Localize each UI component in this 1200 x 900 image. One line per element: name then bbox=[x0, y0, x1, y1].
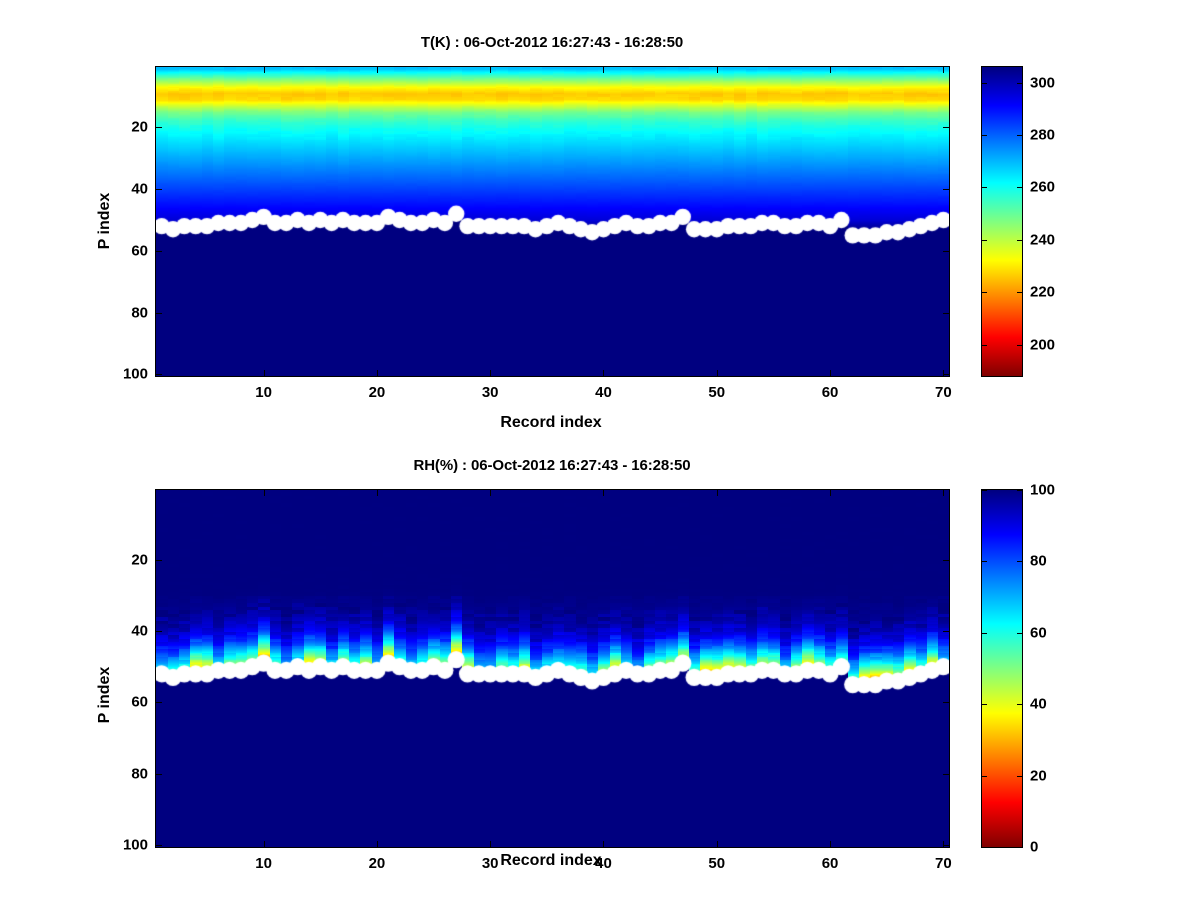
temperature-colorbar-tick bbox=[982, 292, 987, 293]
temperature-x-tick-label: 70 bbox=[935, 384, 952, 401]
humidity-x-tick-top bbox=[264, 490, 265, 496]
temperature-x-tick-label: 10 bbox=[255, 384, 272, 401]
humidity-colorbar-tick-label: 40 bbox=[1030, 696, 1047, 713]
temperature-colorbar-tick bbox=[982, 240, 987, 241]
humidity-x-tick-label: 70 bbox=[935, 855, 952, 872]
humidity-x-tick-label: 30 bbox=[482, 855, 499, 872]
temperature-y-axis-label: P index bbox=[96, 193, 114, 250]
humidity-x-tick-top bbox=[603, 490, 604, 496]
humidity-colorbar-tick-right bbox=[1017, 490, 1022, 491]
temperature-x-tick-top bbox=[830, 67, 831, 73]
temperature-colorbar-tick-label: 280 bbox=[1030, 127, 1055, 144]
temperature-colorbar-gradient bbox=[982, 67, 1022, 376]
temperature-colorbar-tick-label: 300 bbox=[1030, 74, 1055, 91]
humidity-x-tick bbox=[717, 841, 718, 847]
humidity-colorbar-tick-label: 20 bbox=[1030, 767, 1047, 784]
humidity-y-tick-label: 40 bbox=[98, 623, 148, 640]
humidity-x-tick-label: 60 bbox=[822, 855, 839, 872]
humidity-colorbar-tick bbox=[982, 704, 987, 705]
humidity-x-tick bbox=[377, 841, 378, 847]
humidity-colorbar-tick-label: 60 bbox=[1030, 624, 1047, 641]
temperature-y-tick bbox=[156, 127, 162, 128]
humidity-x-axis-label: Record index bbox=[500, 852, 601, 870]
humidity-colorbar-tick-right bbox=[1017, 704, 1022, 705]
humidity-x-tick-label: 10 bbox=[255, 855, 272, 872]
humidity-heatmap bbox=[156, 490, 949, 847]
temperature-y-tick-label: 100 bbox=[98, 366, 148, 383]
temperature-colorbar-tick-right bbox=[1017, 345, 1022, 346]
humidity-colorbar-tick bbox=[982, 776, 987, 777]
temperature-colorbar-tick-label: 260 bbox=[1030, 179, 1055, 196]
temperature-colorbar-tick-right bbox=[1017, 240, 1022, 241]
humidity-axes bbox=[155, 489, 950, 848]
temperature-colorbar-tick bbox=[982, 345, 987, 346]
temperature-x-tick-label: 50 bbox=[708, 384, 725, 401]
humidity-y-tick-label: 20 bbox=[98, 551, 148, 568]
temperature-x-tick bbox=[264, 370, 265, 376]
temperature-colorbar-tick-label: 220 bbox=[1030, 284, 1055, 301]
temperature-colorbar-tick-label: 200 bbox=[1030, 336, 1055, 353]
temperature-y-tick bbox=[156, 189, 162, 190]
humidity-x-tick-top bbox=[717, 490, 718, 496]
temperature-panel: T(K) : 06-Oct-2012 16:27:43 - 16:28:50 1… bbox=[0, 0, 1200, 450]
humidity-colorbar-tick-label: 0 bbox=[1030, 839, 1038, 856]
humidity-x-tick-top bbox=[377, 490, 378, 496]
humidity-y-tick-right bbox=[943, 702, 949, 703]
temperature-y-tick bbox=[156, 251, 162, 252]
humidity-y-tick-label: 80 bbox=[98, 765, 148, 782]
temperature-colorbar-tick-right bbox=[1017, 83, 1022, 84]
temperature-x-tick-label: 30 bbox=[482, 384, 499, 401]
humidity-x-tick-label: 50 bbox=[708, 855, 725, 872]
temperature-x-tick bbox=[377, 370, 378, 376]
temperature-colorbar-tick-right bbox=[1017, 187, 1022, 188]
figure-canvas: T(K) : 06-Oct-2012 16:27:43 - 16:28:50 1… bbox=[0, 0, 1200, 900]
temperature-plot-title: T(K) : 06-Oct-2012 16:27:43 - 16:28:50 bbox=[155, 34, 949, 51]
humidity-x-tick-label: 20 bbox=[369, 855, 386, 872]
temperature-x-tick-label: 40 bbox=[595, 384, 612, 401]
humidity-x-tick bbox=[603, 841, 604, 847]
humidity-colorbar-tick-right bbox=[1017, 847, 1022, 848]
temperature-x-tick-top bbox=[943, 67, 944, 73]
humidity-x-tick bbox=[264, 841, 265, 847]
temperature-x-tick bbox=[490, 370, 491, 376]
humidity-y-tick bbox=[156, 702, 162, 703]
temperature-colorbar-tick bbox=[982, 135, 987, 136]
temperature-y-tick bbox=[156, 374, 162, 375]
humidity-y-tick-right bbox=[943, 631, 949, 632]
humidity-y-tick bbox=[156, 631, 162, 632]
temperature-y-tick-right bbox=[943, 313, 949, 314]
humidity-x-tick-top bbox=[943, 490, 944, 496]
humidity-colorbar-tick bbox=[982, 490, 987, 491]
temperature-x-tick-top bbox=[264, 67, 265, 73]
temperature-x-tick-label: 20 bbox=[369, 384, 386, 401]
temperature-x-axis-label: Record index bbox=[500, 414, 601, 432]
humidity-y-axis-label: P index bbox=[96, 667, 114, 724]
humidity-colorbar-tick-right bbox=[1017, 633, 1022, 634]
temperature-x-tick-top bbox=[377, 67, 378, 73]
humidity-y-tick bbox=[156, 560, 162, 561]
humidity-y-tick-label: 100 bbox=[98, 837, 148, 854]
humidity-x-tick bbox=[830, 841, 831, 847]
temperature-y-tick-label: 80 bbox=[98, 304, 148, 321]
humidity-colorbar-tick bbox=[982, 561, 987, 562]
temperature-heatmap bbox=[156, 67, 949, 376]
humidity-x-tick-top bbox=[490, 490, 491, 496]
temperature-x-tick-top bbox=[490, 67, 491, 73]
humidity-colorbar-tick-right bbox=[1017, 776, 1022, 777]
humidity-y-tick bbox=[156, 845, 162, 846]
humidity-y-tick-right bbox=[943, 774, 949, 775]
temperature-y-tick-right bbox=[943, 127, 949, 128]
humidity-colorbar bbox=[981, 489, 1023, 848]
temperature-colorbar-tick bbox=[982, 83, 987, 84]
temperature-x-tick-top bbox=[717, 67, 718, 73]
humidity-colorbar-tick-right bbox=[1017, 561, 1022, 562]
temperature-colorbar-tick-label: 240 bbox=[1030, 231, 1055, 248]
temperature-y-tick-right bbox=[943, 374, 949, 375]
temperature-colorbar-tick bbox=[982, 187, 987, 188]
humidity-y-tick-right bbox=[943, 845, 949, 846]
temperature-y-tick-right bbox=[943, 251, 949, 252]
humidity-colorbar-tick-label: 80 bbox=[1030, 553, 1047, 570]
temperature-colorbar bbox=[981, 66, 1023, 377]
temperature-colorbar-tick-right bbox=[1017, 292, 1022, 293]
humidity-y-tick bbox=[156, 774, 162, 775]
temperature-y-tick-label: 20 bbox=[98, 119, 148, 136]
temperature-axes bbox=[155, 66, 950, 377]
humidity-x-tick bbox=[490, 841, 491, 847]
humidity-x-tick-top bbox=[830, 490, 831, 496]
humidity-plot-title: RH(%) : 06-Oct-2012 16:27:43 - 16:28:50 bbox=[155, 457, 949, 474]
temperature-y-tick bbox=[156, 313, 162, 314]
temperature-x-tick bbox=[830, 370, 831, 376]
humidity-y-tick-right bbox=[943, 560, 949, 561]
temperature-x-tick bbox=[717, 370, 718, 376]
humidity-colorbar-tick bbox=[982, 847, 987, 848]
humidity-colorbar-tick-label: 100 bbox=[1030, 482, 1055, 499]
humidity-panel: RH(%) : 06-Oct-2012 16:27:43 - 16:28:50 … bbox=[0, 450, 1200, 900]
temperature-colorbar-tick-right bbox=[1017, 135, 1022, 136]
humidity-colorbar-tick bbox=[982, 633, 987, 634]
temperature-x-tick bbox=[603, 370, 604, 376]
temperature-x-tick-top bbox=[603, 67, 604, 73]
temperature-y-tick-right bbox=[943, 189, 949, 190]
temperature-x-tick-label: 60 bbox=[822, 384, 839, 401]
humidity-colorbar-gradient bbox=[982, 490, 1022, 847]
